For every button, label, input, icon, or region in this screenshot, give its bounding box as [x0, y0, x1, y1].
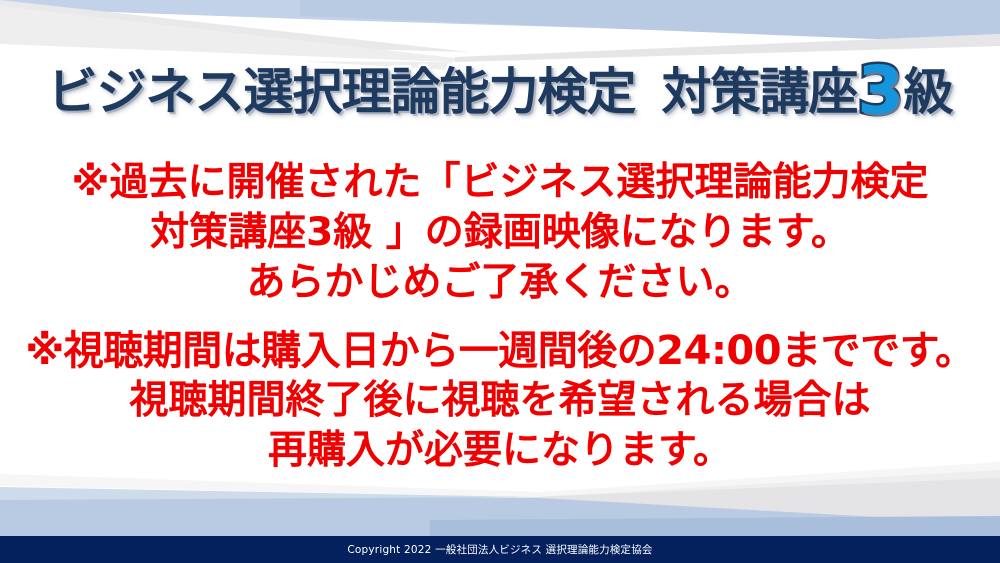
bottom-blue-band-left: [0, 492, 1000, 536]
notice-2-line-1: ※視聴期間は購入日から一週間後の24:00までです。: [0, 326, 1000, 376]
notice-2-line-3: 再購入が必要になります。: [0, 426, 1000, 476]
footer-bar: Copyright 2022 一般社団法人ビジネス 選択理論能力検定協会: [0, 536, 1000, 563]
notice-1-line-3: あらかじめご了承ください。: [0, 258, 1000, 308]
notice-paragraph-2: ※視聴期間は購入日から一週間後の24:00までです。 視聴期間終了後に視聴を希望…: [0, 326, 1000, 476]
title-text: ビジネス選択理論能力検定対策講座3級: [48, 58, 953, 124]
top-gray-band-left: [0, 0, 470, 52]
title-sub: 対策講座: [662, 63, 858, 121]
bottom-blue-band-pale: [0, 487, 536, 500]
notice-2-line-2: 視聴期間終了後に視聴を希望される場合は: [0, 376, 1000, 426]
title-grade-suffix: 級: [903, 63, 952, 121]
slide-canvas: ビジネス選択理論能力検定対策講座3級 ※過去に開催された「ビジネス選択理論能力検…: [0, 0, 1000, 563]
top-blue-band-right: [300, 0, 1000, 44]
title-grade-number: 3: [858, 52, 904, 129]
notice-1-line-2: 対策講座3級 」の録画映像になります。: [0, 208, 1000, 258]
notice-paragraph-1: ※過去に開催された「ビジネス選択理論能力検定 対策講座3級 」の録画映像になりま…: [0, 158, 1000, 308]
top-blue-band: [0, 0, 1000, 40]
title-main: ビジネス選択理論能力検定: [48, 63, 636, 121]
slide-title: ビジネス選択理論能力検定対策講座3級: [0, 58, 1000, 124]
bottom-gray-band-wide: [330, 470, 1000, 536]
bottom-gray-wedge-mid: [530, 478, 1000, 536]
copyright-text: Copyright 2022 一般社団法人ビジネス 選択理論能力検定協会: [347, 542, 652, 557]
bottom-blue-band-shade: [430, 516, 1000, 536]
notice-1-line-1: ※過去に開催された「ビジネス選択理論能力検定: [0, 158, 1000, 208]
